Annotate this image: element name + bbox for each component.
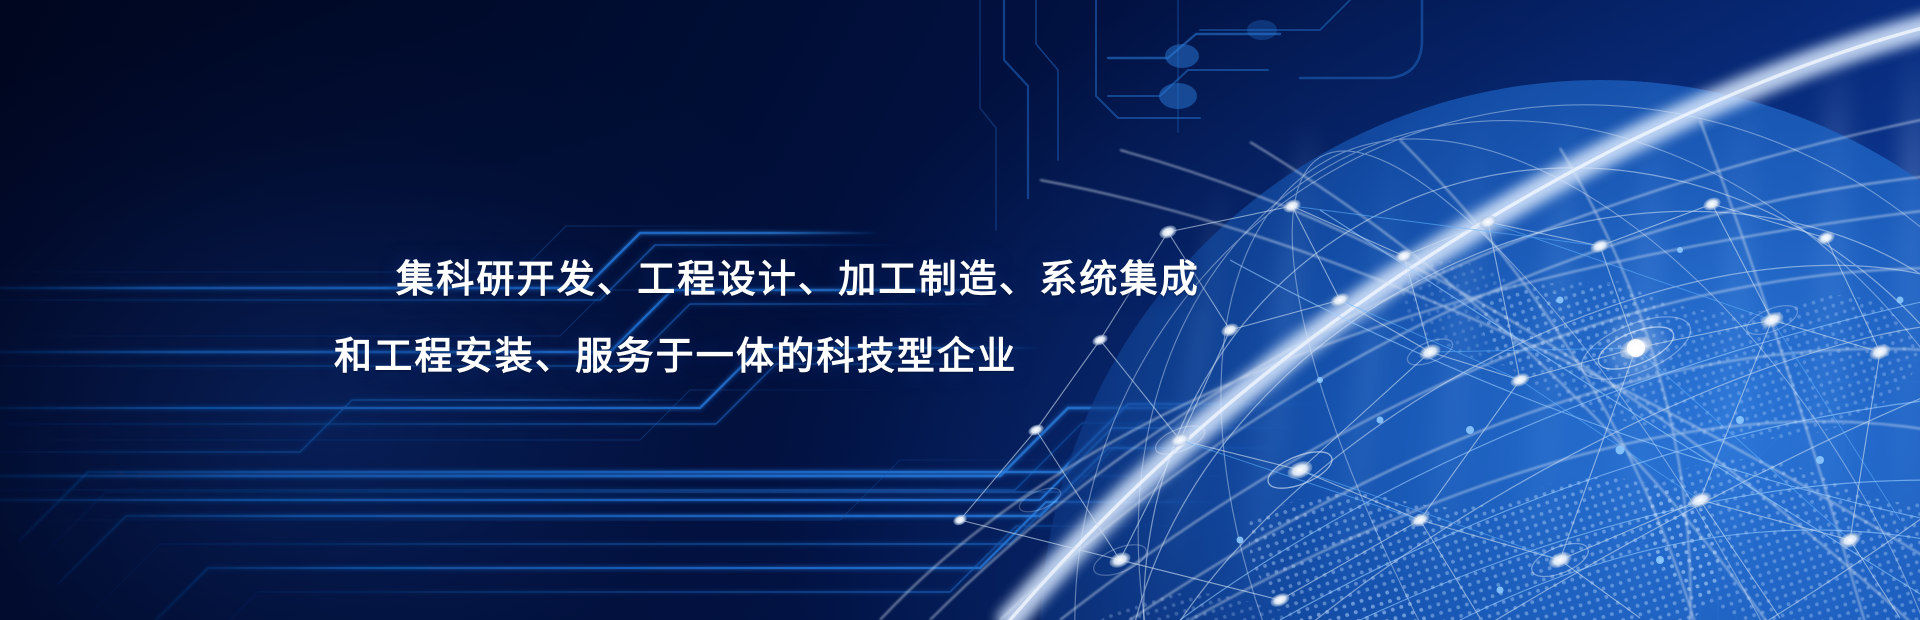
headline-line-1: 集科研开发、工程设计、加工制造、系统集成 — [396, 248, 1200, 303]
network-globe-svg — [0, 0, 1920, 620]
hero-banner: 集科研开发、工程设计、加工制造、系统集成 和工程安装、服务于一体的科技型企业 — [0, 0, 1920, 620]
headline-line-2: 和工程安装、服务于一体的科技型企业 — [334, 325, 1017, 380]
network-globe — [0, 0, 1920, 620]
